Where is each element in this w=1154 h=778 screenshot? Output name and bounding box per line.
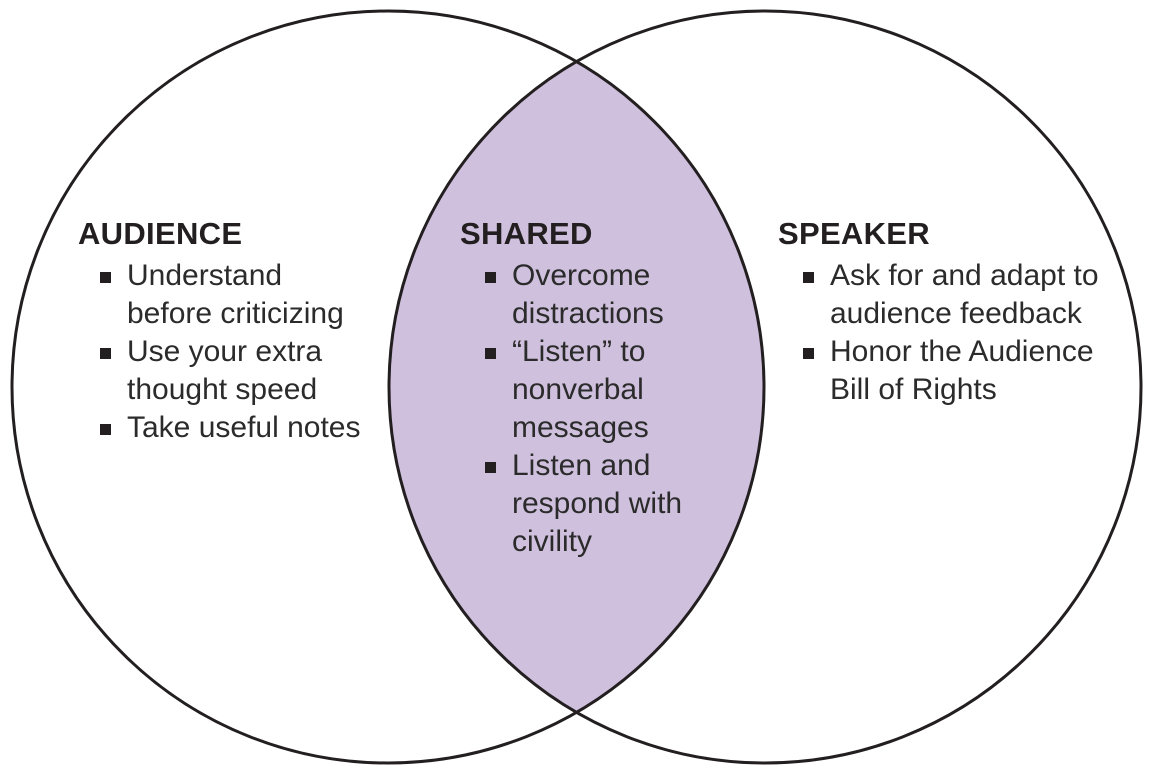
list-item-label: Understand before criticizing bbox=[127, 259, 344, 330]
square-bullet-icon bbox=[803, 272, 814, 283]
list-item: Overcome distractions bbox=[485, 257, 710, 333]
square-bullet-icon bbox=[100, 272, 111, 283]
list-item: Honor the Audience Bill of Rights bbox=[803, 333, 1118, 409]
list-item-label: Honor the Audience Bill of Rights bbox=[830, 335, 1094, 406]
list-item: Understand before criticizing bbox=[100, 257, 368, 333]
section-audience: AUDIENCE Understand before criticizing U… bbox=[78, 218, 368, 447]
section-speaker: SPEAKER Ask for and adapt to audience fe… bbox=[778, 218, 1118, 409]
list-item: Use your extra thought speed bbox=[100, 333, 368, 409]
list-item: Take useful notes bbox=[100, 409, 368, 447]
list-item: “Listen” to nonverbal messages bbox=[485, 333, 710, 447]
square-bullet-icon bbox=[803, 348, 814, 359]
square-bullet-icon bbox=[100, 424, 111, 435]
audience-heading: AUDIENCE bbox=[78, 218, 368, 251]
list-item-label: “Listen” to nonverbal messages bbox=[512, 335, 649, 444]
list-item-label: Overcome distractions bbox=[512, 259, 664, 330]
list-item-label: Use your extra thought speed bbox=[127, 335, 322, 406]
square-bullet-icon bbox=[485, 348, 496, 359]
section-shared: SHARED Overcome distractions “Listen” to… bbox=[460, 218, 710, 561]
venn-diagram: AUDIENCE Understand before criticizing U… bbox=[0, 0, 1154, 778]
speaker-heading: SPEAKER bbox=[778, 218, 1118, 251]
square-bullet-icon bbox=[485, 462, 496, 473]
list-item: Listen and respond with civility bbox=[485, 447, 710, 561]
list-item-label: Listen and respond with civility bbox=[512, 449, 682, 558]
square-bullet-icon bbox=[100, 348, 111, 359]
list-item-label: Take useful notes bbox=[127, 411, 360, 444]
shared-list: Overcome distractions “Listen” to nonver… bbox=[485, 257, 710, 561]
square-bullet-icon bbox=[485, 272, 496, 283]
speaker-list: Ask for and adapt to audience feedback H… bbox=[803, 257, 1118, 409]
shared-heading: SHARED bbox=[460, 218, 710, 251]
list-item: Ask for and adapt to audience feedback bbox=[803, 257, 1118, 333]
audience-list: Understand before criticizing Use your e… bbox=[100, 257, 368, 447]
list-item-label: Ask for and adapt to audience feedback bbox=[830, 259, 1099, 330]
